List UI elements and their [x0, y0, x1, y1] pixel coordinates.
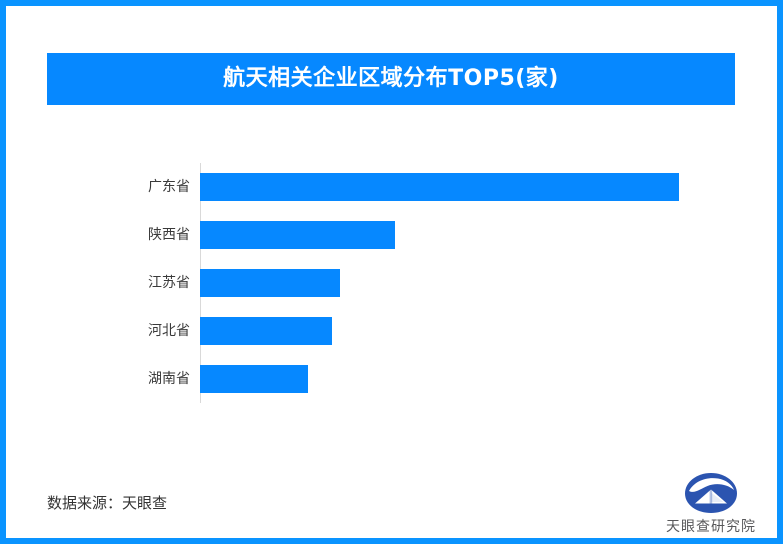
bar-row: 陕西省: [200, 211, 720, 259]
bar-jiangsu[interactable]: [200, 269, 340, 297]
bar-chart: 广东省 陕西省 江苏省 河北省 湖南省: [6, 116, 777, 416]
y-axis-tick-label: 广东省: [148, 180, 190, 194]
y-axis-tick-label: 陕西省: [148, 228, 190, 242]
bar-row: 广东省: [200, 163, 720, 211]
bar-row: 河北省: [200, 307, 720, 355]
bar-guangdong[interactable]: [200, 173, 679, 201]
y-axis-tick-label: 江苏省: [148, 276, 190, 290]
page-title: 航天相关企业区域分布TOP5(家): [223, 68, 559, 90]
data-source-note: 数据来源：天眼查: [47, 492, 167, 513]
bar-shaanxi[interactable]: [200, 221, 395, 249]
bar-hunan[interactable]: [200, 365, 308, 393]
y-axis-tick-label: 湖南省: [148, 372, 190, 386]
plot-area: 广东省 陕西省 江苏省 河北省 湖南省: [200, 163, 720, 403]
chart-infographic-page: 航天相关企业区域分布TOP5(家) 广东省 陕西省 江苏省 河北省 湖南省: [0, 0, 783, 544]
brand-logo-text: 天眼查研究院: [661, 516, 761, 536]
y-axis-tick-label: 河北省: [148, 324, 190, 338]
tianyancha-eye-logo-icon: [683, 472, 739, 514]
bar-row: 江苏省: [200, 259, 720, 307]
bar-row: 湖南省: [200, 355, 720, 403]
brand-logo: 天眼查研究院: [661, 472, 761, 538]
bar-hebei[interactable]: [200, 317, 332, 345]
chart-title-banner: 航天相关企业区域分布TOP5(家): [47, 53, 735, 105]
